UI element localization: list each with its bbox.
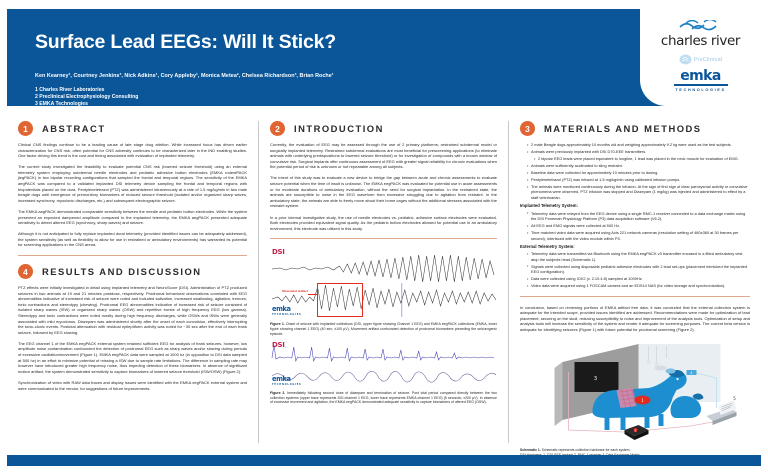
- list-item: Data were collected using IOX2 (v. 2.10.…: [527, 276, 750, 281]
- section-number-badge: 1: [18, 121, 33, 136]
- figure-1-caption-label: Figure 1.: [270, 322, 285, 326]
- figure-2-caption-text: Immediately following second dose of dia…: [270, 391, 497, 404]
- dsi-logo-figure1: DSI: [272, 248, 285, 256]
- brain-icon: [679, 54, 692, 65]
- section-divider: [270, 238, 497, 239]
- section-title-abstract: ABSTRACT: [42, 123, 106, 134]
- poster-canvas: Surface Lead EEGs: Will It Stick? Ken Ke…: [0, 9, 768, 474]
- schematic-label-4: 4: [690, 371, 692, 375]
- figure-1-caption: Figure 1. Onset of seizure with implante…: [270, 322, 497, 336]
- list-item: 2 male Beagle dogs approximately 10 mont…: [527, 142, 750, 147]
- emka-logo-figure1: emka TECHNOLOGIES: [272, 306, 302, 318]
- emka-logo-text: emka: [640, 70, 761, 83]
- poster-columns: 1 ABSTRACT Clinical CNS findings continu…: [7, 121, 761, 443]
- figure-2: DSI emka TECHNOLOGIES Figure 2. Immediat…: [270, 340, 497, 405]
- section-header-materials: 3 MATERIALS AND METHODS: [520, 121, 750, 136]
- schematic-1: 3: [520, 338, 750, 442]
- figure-1-eeg-traces: [270, 247, 497, 321]
- section-divider: [520, 296, 750, 297]
- schematic-label-3: 3: [594, 376, 597, 382]
- section-header-results: 4 RESULTS AND DISCUSSION: [18, 264, 247, 279]
- section-title-materials: MATERIALS AND METHODS: [544, 123, 702, 134]
- figure-2-eeg-traces: [270, 340, 497, 390]
- section-header-introduction: 2 INTRODUCTION: [270, 121, 497, 136]
- abstract-paragraph-3: The EMKA aegPACK demonstrated comparable…: [18, 209, 247, 226]
- implanted-telemetry-list: Telemetry data were relayed from the EEG…: [520, 211, 750, 241]
- subsection-implanted-telemetry: Implanted Telemetry System:: [520, 203, 750, 208]
- list-item: Telemetry data were relayed from the EEG…: [527, 211, 750, 222]
- materials-bullet-list: 2 male Beagle dogs approximately 10 mont…: [520, 142, 750, 200]
- emka-logo-rule: [674, 84, 728, 86]
- abstract-paragraph-2: The current study investigated the feasi…: [18, 164, 247, 203]
- affiliation-2: 2 Preclinical Electrophysiology Consulti…: [35, 94, 138, 101]
- list-item: 2 bipolar EEG leads were placed equivale…: [527, 156, 750, 161]
- emka-logo-subtitle: TECHNOLOGIES: [640, 87, 761, 92]
- schematic-caption-label: Schematic 1.: [520, 448, 541, 452]
- dsi-logo-figure2: DSI: [272, 341, 285, 349]
- author-list: Ken Kearney¹, Courtney Jenkins³, Nick Ad…: [35, 73, 334, 79]
- schematic-illustration: 3: [520, 338, 750, 442]
- conclusion-paragraph: In conclusion, based on reviewing portio…: [520, 305, 750, 333]
- external-telemetry-list: Telemetry data were transmitted via Blue…: [520, 251, 750, 288]
- schematic-label-5: 5: [733, 396, 736, 401]
- logo-panel: charles river PreClinical emka TECHNOLOG…: [640, 9, 761, 106]
- schematic-label-2: 2: [635, 429, 637, 433]
- charles-river-logo-text: charles river: [640, 33, 761, 49]
- emka-logo: emka TECHNOLOGIES: [640, 70, 761, 92]
- introduction-paragraph-3: In a prior internal investigative study,…: [270, 215, 497, 232]
- affiliation-3: 3 EMKA Technologies: [35, 101, 138, 108]
- subsection-external-telemetry: External Telemetry System:: [520, 244, 750, 249]
- charles-river-wave-icon: [678, 20, 724, 31]
- figure-2-panel: DSI emka TECHNOLOGIES: [270, 340, 497, 390]
- results-paragraph-1: PTZ effects were initially investigated …: [18, 285, 247, 335]
- list-item: Time matched video data were acquired us…: [527, 230, 750, 241]
- column-middle: 2 INTRODUCTION Currently, the evaluation…: [258, 121, 509, 443]
- results-paragraph-2: The EEG channel 1 of the EMKA eegPACK ex…: [18, 341, 247, 375]
- list-item: All EEG and EMG signals were collected a…: [527, 223, 750, 228]
- preclinical-label: PreClinical: [694, 57, 722, 63]
- artifact-arrow: [308, 294, 317, 295]
- affiliation-1: 1 Charles River Laboratories: [35, 87, 138, 94]
- introduction-paragraph-1: Currently, the evaluation of EEG may be …: [270, 142, 497, 170]
- list-item: Video data were acquired using 1 FOSCAM …: [527, 283, 750, 288]
- list-item: Pentylenetetrazol (PTZ) was infused at 1…: [527, 177, 750, 182]
- artifact-highlight-box: [317, 283, 363, 317]
- page-title: Surface Lead EEGs: Will It Stick?: [35, 31, 336, 54]
- section-divider: [18, 255, 247, 256]
- list-item: Baseline data were collected for approxi…: [527, 170, 750, 175]
- section-number-badge: 2: [270, 121, 285, 136]
- introduction-paragraph-2: The intent of this study was to evaluate…: [270, 175, 497, 209]
- list-item: Signals were collected using disposable …: [527, 264, 750, 275]
- section-title-introduction: INTRODUCTION: [294, 123, 384, 134]
- schematic-caption-line-1: Schematic represents collection hardware…: [541, 448, 631, 452]
- list-item: Animals were previously implanted with D…: [527, 149, 750, 154]
- schematic-label-1: 1: [641, 398, 644, 403]
- results-paragraph-3: Synchronization of video with RAW data t…: [18, 380, 247, 391]
- figure-1-caption-text: Onset of seizure with implanted collecti…: [270, 322, 497, 335]
- poster-header: Surface Lead EEGs: Will It Stick? Ken Ke…: [7, 9, 761, 106]
- movement-artifact-label: Movement artifact: [282, 290, 308, 294]
- section-header-abstract: 1 ABSTRACT: [18, 121, 247, 136]
- section-number-badge: 4: [18, 264, 33, 279]
- list-item: Animals were sufficiently acclimated to …: [527, 163, 750, 168]
- list-item: The animals were monitored continuously …: [527, 184, 750, 200]
- emka-logo-figure2: emka TECHNOLOGIES: [272, 376, 302, 388]
- list-item: Telemetry data were transmitted via Blue…: [527, 251, 750, 262]
- column-right: 3 MATERIALS AND METHODS 2 male Beagle do…: [509, 121, 761, 443]
- figure-1-panel: DSI Movement artifact emka: [270, 247, 497, 321]
- column-left: 1 ABSTRACT Clinical CNS findings continu…: [7, 121, 258, 443]
- section-title-results: RESULTS AND DISCUSSION: [42, 266, 202, 277]
- figure-2-caption-label: Figure 2.: [270, 391, 285, 395]
- figure-1: DSI Movement artifact emka: [270, 247, 497, 336]
- abstract-paragraph-1: Clinical CNS findings continue to be a l…: [18, 142, 247, 159]
- section-number-badge: 3: [520, 121, 535, 136]
- affiliation-list: 1 Charles River Laboratories 2 Preclinic…: [35, 87, 138, 109]
- figure-2-caption: Figure 2. Immediately following second d…: [270, 391, 497, 405]
- preclinical-logo: PreClinical: [640, 54, 761, 65]
- poster-footer-bar: [7, 455, 761, 466]
- abstract-paragraph-4: Although it is not anticipated to fully …: [18, 231, 247, 248]
